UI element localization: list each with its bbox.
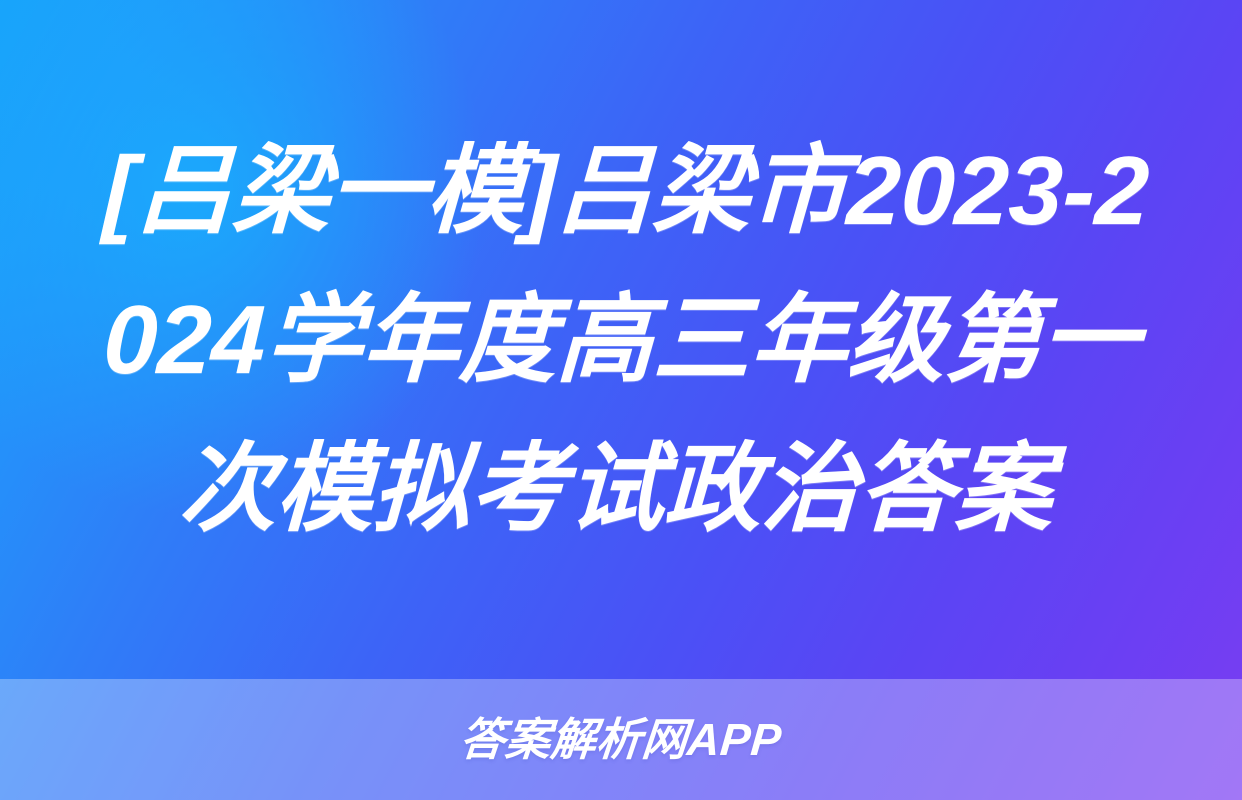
footer-watermark-band: 答案解析网APP xyxy=(0,679,1242,800)
title-block: [吕梁一模]吕梁市2023-2024学年度高三年级第一次模拟考试政治答案 xyxy=(0,0,1242,679)
title-card: [吕梁一模]吕梁市2023-2024学年度高三年级第一次模拟考试政治答案 答案解… xyxy=(0,0,1242,800)
watermark-label: 答案解析网APP xyxy=(458,717,783,762)
page-title: [吕梁一模]吕梁市2023-2024学年度高三年级第一次模拟考试政治答案 xyxy=(78,116,1164,563)
